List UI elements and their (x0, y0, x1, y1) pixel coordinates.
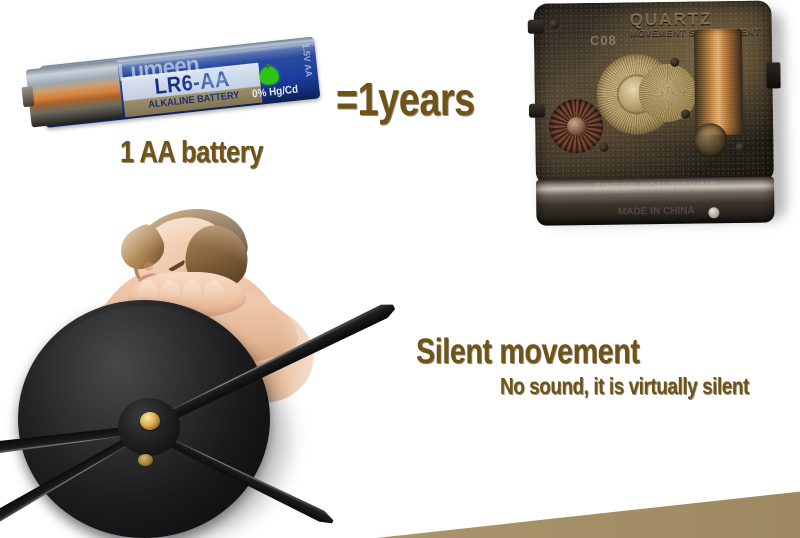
movement-case: QUARTZ MOVEMENT SUPER SILENT C08 (533, 0, 774, 185)
clock-hands-assembly (0, 232, 450, 538)
battery-negative-cap (26, 60, 124, 128)
copper-coil (694, 29, 743, 136)
green-apple-icon (259, 66, 280, 86)
silent-movement-title: Silent movement (416, 334, 640, 369)
battery-terminal-nub (21, 86, 34, 107)
aa-battery-image: Lumeen LR6-AA ALKALINE BATTERY 0% Hg/Cd … (24, 23, 322, 146)
case-screw (681, 110, 690, 119)
case-screw (735, 143, 744, 152)
battery-tray: SWEEP NON TICKING MADE IN CHINA (536, 176, 775, 225)
mounting-lug (529, 104, 545, 118)
case-screw (550, 19, 559, 28)
rotor-hub (567, 117, 585, 135)
tray-contact-dot (708, 207, 719, 218)
case-screw (599, 143, 608, 152)
case-screw (670, 58, 679, 67)
silent-movement-subtitle: No sound, it is virtually silent (500, 375, 749, 398)
battery-caption: 1 AA battery (120, 136, 263, 167)
promo-banner: Lumeen LR6-AA ALKALINE BATTERY 0% Hg/Cd … (0, 0, 800, 538)
brass-lower-nut (138, 454, 153, 466)
equals-one-year-callout: =1years (336, 76, 475, 122)
tray-emboss-text: SWEEP NON TICKING (566, 180, 746, 195)
movement-code-emboss: C08 (590, 33, 617, 48)
quartz-movement-image: QUARTZ MOVEMENT SUPER SILENT C08 SWEEP N… (533, 0, 786, 225)
battery-side-note: 1.5V AA (300, 43, 314, 78)
brass-center-nut (140, 412, 160, 430)
mounting-lug (528, 20, 544, 34)
drive-shaft (766, 62, 780, 88)
